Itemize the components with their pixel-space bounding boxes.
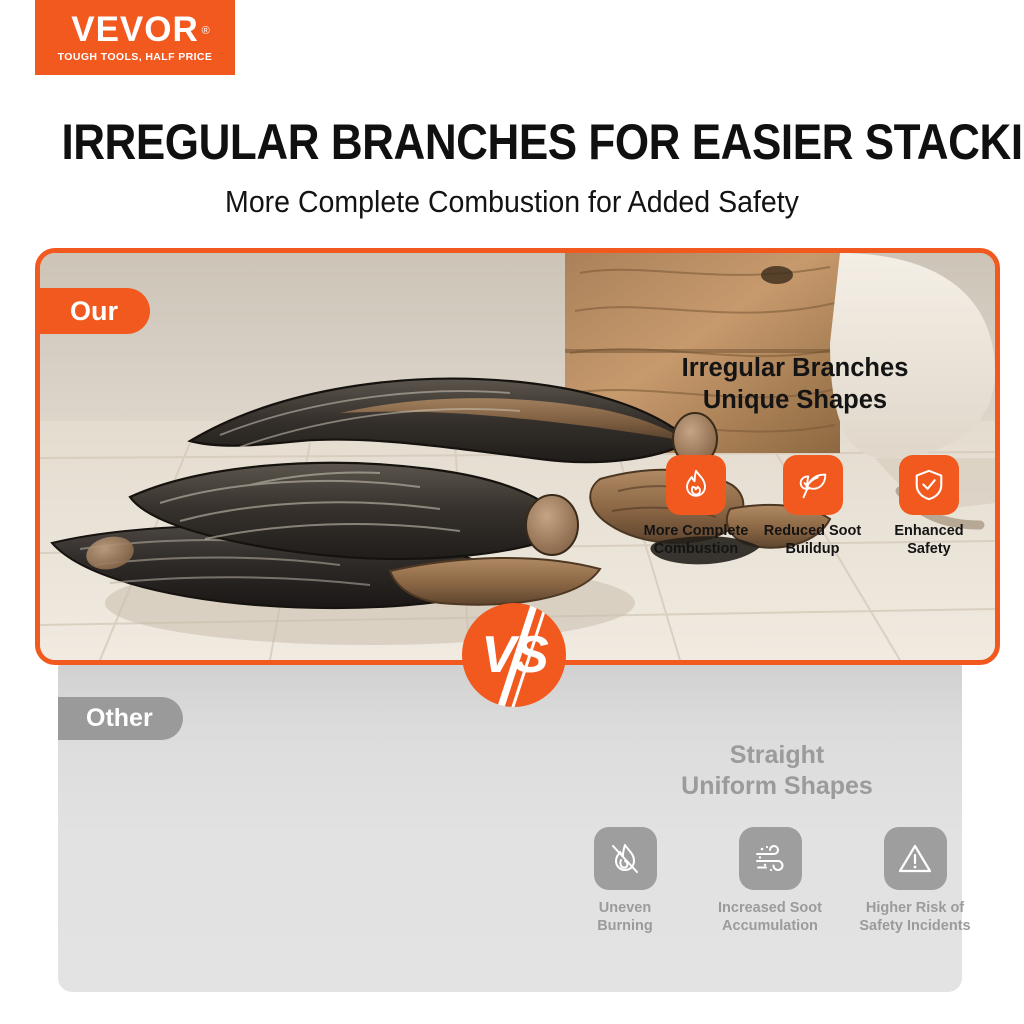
other-feature-item: Increased Soot Accumulation xyxy=(705,827,835,935)
brand-tagline: TOUGH TOOLS, HALF PRICE xyxy=(58,51,213,63)
vevor-logo: VEVOR ® TOUGH TOOLS, HALF PRICE xyxy=(35,0,235,75)
vs-badge: VS xyxy=(462,603,566,707)
our-title-line1: Irregular Branches xyxy=(630,352,960,384)
other-feature-label: Uneven Burning xyxy=(597,899,653,935)
wind-soot-icon xyxy=(739,827,802,890)
our-feature-item: More Complete Combustion xyxy=(640,455,752,558)
our-feature-item: Reduced Soot Buildup xyxy=(757,455,869,558)
other-feature-label: Increased Soot Accumulation xyxy=(718,899,822,935)
shield-check-icon xyxy=(899,455,959,515)
our-feature-label: Enhanced Safety xyxy=(894,523,963,558)
other-title-line1: Straight xyxy=(612,740,942,771)
our-feature-list: More Complete Combustion Reduced Soot Bu… xyxy=(640,455,985,558)
other-feature-item: Uneven Burning xyxy=(560,827,690,935)
flame-icon xyxy=(666,455,726,515)
page-headline: IRREGULAR BRANCHES FOR EASIER STACKING xyxy=(61,116,962,168)
our-feature-item: Enhanced Safety xyxy=(873,455,985,558)
other-badge: Other xyxy=(58,697,183,740)
flame-slash-icon xyxy=(594,827,657,890)
our-title-line2: Unique Shapes xyxy=(630,384,960,416)
registered-mark: ® xyxy=(202,13,211,49)
our-title: Irregular Branches Unique Shapes xyxy=(630,352,960,416)
our-badge: Our xyxy=(40,288,150,334)
our-feature-label: More Complete Combustion xyxy=(644,523,749,558)
warning-triangle-icon xyxy=(884,827,947,890)
our-feature-label: Reduced Soot Buildup xyxy=(764,523,861,558)
leaves-icon xyxy=(783,455,843,515)
other-feature-item: Higher Risk of Safety Incidents xyxy=(850,827,980,935)
other-title-line2: Uniform Shapes xyxy=(612,771,942,802)
other-feature-list: Uneven Burning Increased Soot Accumulati… xyxy=(560,827,980,935)
other-feature-label: Higher Risk of Safety Incidents xyxy=(859,899,970,935)
brand-name: VEVOR xyxy=(71,10,199,49)
brand-wordmark: VEVOR ® xyxy=(71,12,199,48)
other-title: Straight Uniform Shapes xyxy=(612,740,942,802)
page-subheadline: More Complete Combustion for Added Safet… xyxy=(41,184,983,220)
